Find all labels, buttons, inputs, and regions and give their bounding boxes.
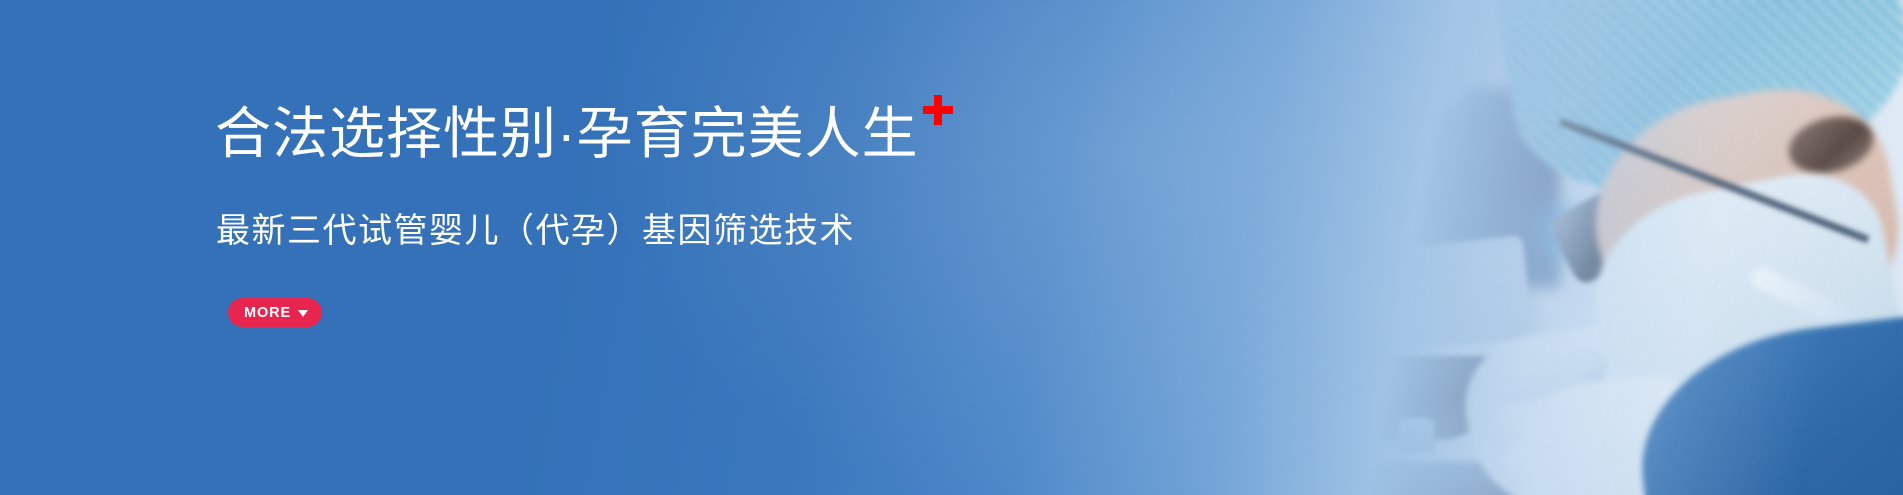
chevron-down-icon [298,310,308,317]
banner-subhead: 最新三代试管婴儿（代孕）基因筛选技术 [216,209,855,253]
more-button[interactable]: MORE [228,298,322,327]
hero-banner: 合法选择性别·孕育完美人生 最新三代试管婴儿（代孕）基因筛选技术 MORE [0,0,1903,495]
headline-text: 合法选择性别·孕育完美人生 [215,102,919,165]
more-button-label: MORE [244,305,291,321]
red-cross-icon [923,74,953,138]
banner-headline: 合法选择性别·孕育完美人生 [215,74,953,166]
